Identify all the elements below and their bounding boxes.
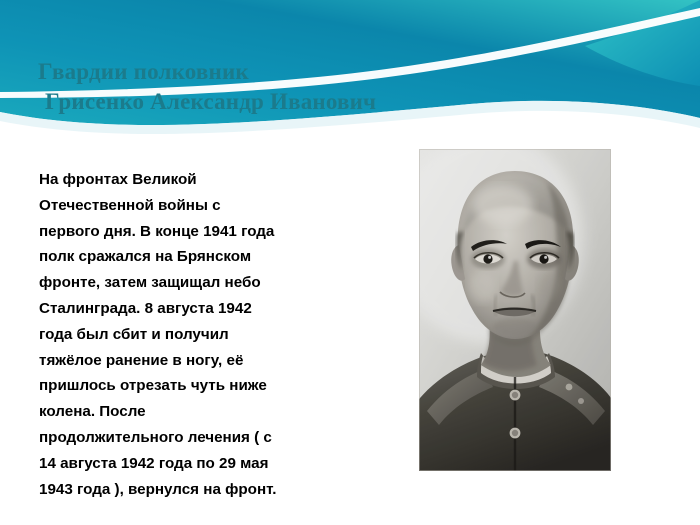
portrait-photo [419, 149, 611, 471]
body-line: На фронтах Великой [39, 167, 369, 193]
body-line: полк сражался на Брянском [39, 244, 369, 270]
portrait-photo-frame [411, 143, 619, 477]
page-title: Гвардии полковник Грисенко Александр Ива… [38, 57, 468, 117]
teal-wave-upper-right [585, 0, 700, 86]
presentation-slide: Гвардии полковник Грисенко Александр Ива… [0, 0, 700, 525]
body-line: 14 августа 1942 года по 29 мая [39, 451, 369, 477]
body-line: 1943 года ), вернулся на фронт. [39, 477, 369, 503]
body-line: года был сбит и получил [39, 322, 369, 348]
title-line-rank: Гвардии полковник [38, 57, 468, 87]
title-line-name: Грисенко Александр Иванович [38, 87, 468, 117]
body-line: колена. После [39, 399, 369, 425]
body-line: фронте, затем защищал небо [39, 270, 369, 296]
body-line: пришлось отрезать чуть ниже [39, 373, 369, 399]
body-line: Сталинграда. 8 августа 1942 [39, 296, 369, 322]
body-line: продолжительного лечения ( с [39, 425, 369, 451]
portrait-illustration [419, 149, 611, 471]
body-line: Отечественной войны с [39, 193, 369, 219]
biography-text: На фронтах Великой Отечественной войны с… [39, 167, 369, 502]
body-line: первого дня. В конце 1941 года [39, 219, 369, 245]
body-line: тяжёлое ранение в ногу, её [39, 348, 369, 374]
